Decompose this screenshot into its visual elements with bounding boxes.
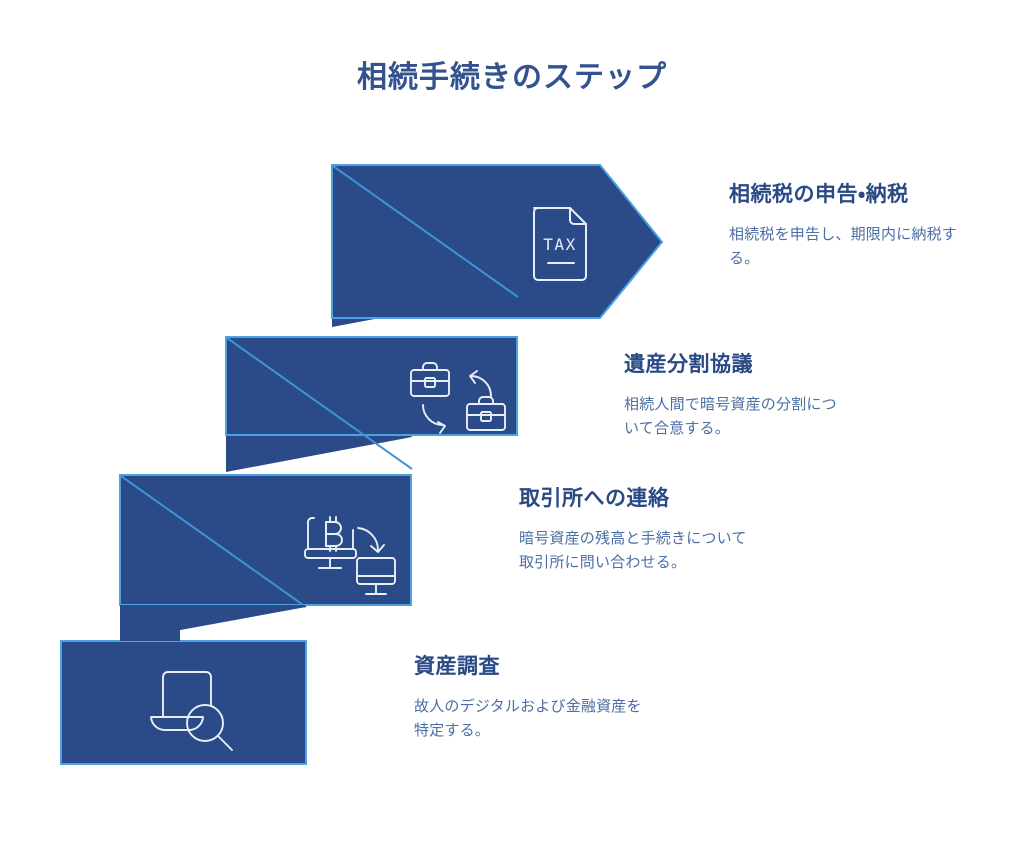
step-body-4: 相続税を申告し、期限内に納税する。 — [729, 223, 961, 270]
page-title: 相続手続きのステップ — [0, 58, 1024, 97]
step-band-2-tail — [120, 605, 180, 641]
briefcase-exchange-icon — [405, 357, 511, 443]
step-text-block-4: 相続税の申告・納税 相続税を申告し、期限内に納税する。 — [729, 180, 961, 270]
svg-text:TAX: TAX — [543, 235, 576, 254]
step-band-3-lower-half — [227, 338, 405, 434]
step-text-block-3: 遺産分割協議 相続人間で暗号資産の分割について合意する。 — [624, 350, 849, 440]
monitor-destination — [357, 558, 395, 594]
step-body-1: 故人のデジタルおよび金融資産を特定する。 — [414, 695, 642, 742]
step-band-4-tail-fill — [332, 290, 518, 327]
step-heading-2: 取引所への連絡 — [519, 484, 747, 514]
briefcase-bottom — [467, 397, 505, 430]
tax-document-icon: TAX — [512, 192, 612, 292]
step-band-2-tail-wedge — [120, 475, 305, 605]
bitcoin-monitor-transfer-icon — [300, 508, 400, 604]
step-heading-1: 資産調査 — [414, 652, 642, 682]
step-band-4-diagonal — [333, 166, 518, 297]
step-text-block-2: 取引所への連絡 暗号資産の残高と手続きについて取引所に問い合わせる。 — [519, 484, 747, 574]
step-body-2: 暗号資産の残高と手続きについて取引所に問い合わせる。 — [519, 527, 747, 574]
step-band-4-lower-half — [333, 166, 512, 317]
step-heading-4: 相続税の申告・納税 — [729, 180, 961, 210]
briefcase-top — [411, 363, 449, 396]
step-heading-3: 遺産分割協議 — [624, 350, 849, 380]
laptop-search-icon — [145, 668, 245, 752]
step-band-3-diagonal — [227, 338, 412, 469]
step-band-4 — [332, 165, 662, 327]
step-band-3-tail-fill — [226, 435, 412, 472]
step-band-2-lower-half — [121, 476, 299, 604]
monitor-bitcoin — [305, 517, 356, 568]
step-band-2-diagonal — [121, 476, 306, 607]
step-band-2-tail-fill — [120, 605, 306, 641]
step-body-3: 相続人間で暗号資産の分割について合意する。 — [624, 393, 849, 440]
infographic-canvas: 相続手続きのステップ — [0, 0, 1024, 856]
step-text-block-1: 資産調査 故人のデジタルおよび金融資産を特定する。 — [414, 652, 642, 742]
step-band-4-body — [332, 165, 662, 318]
